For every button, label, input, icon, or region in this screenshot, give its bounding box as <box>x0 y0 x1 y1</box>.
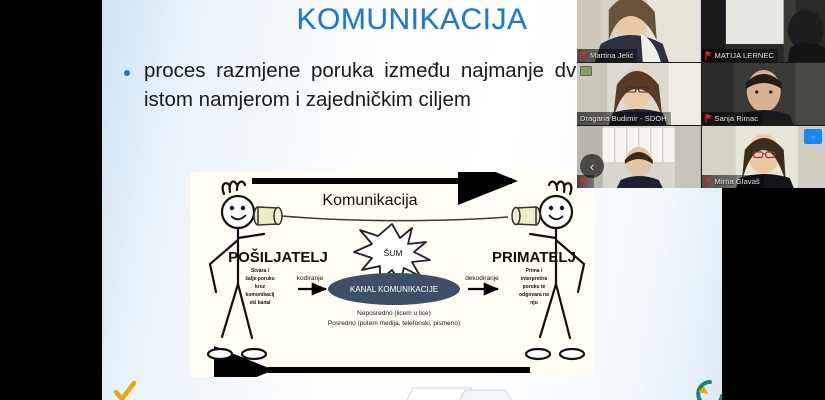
diagram-sender-title: POŠILJATELJ <box>228 248 328 266</box>
bullet-dot-icon <box>124 70 130 76</box>
svg-text:ski kanal: ski kanal <box>249 300 271 306</box>
video-thumbnail-icon <box>580 66 592 76</box>
diagram-channel-label: KANAL KOMUNIKACIJE <box>350 285 438 294</box>
camera-badge-icon[interactable]: ▭ <box>804 129 822 144</box>
participant-name-5: Mirna Glavaš <box>715 177 760 186</box>
flag-icon <box>705 177 712 186</box>
diagram-encode-label: kodiranje <box>297 275 324 282</box>
participant-tile-5[interactable]: ▭ Mirna Glavaš <box>702 126 825 188</box>
participant-tile-2[interactable]: Dragana Budimir - SDOH <box>577 63 701 125</box>
communication-diagram: Komunikacija <box>190 172 594 377</box>
svg-text:Prima i: Prima i <box>526 268 543 274</box>
participant-nameplate-2: Dragana Budimir - SDOH <box>577 112 671 125</box>
participant-grid[interactable]: Martina Jelić MATIJA LERNEC <box>577 0 825 188</box>
screen-share-view: KOMUNIKACIJA proces razmjene poruka izme… <box>0 0 825 400</box>
svg-text:poruku te: poruku te <box>523 284 546 290</box>
diagram-top-label: Komunikacija <box>322 192 417 209</box>
svg-text:odgovara na: odgovara na <box>519 292 549 298</box>
participant-tile-0[interactable]: Martina Jelić <box>577 0 701 62</box>
svg-text:interpretira: interpretira <box>521 276 548 282</box>
participant-tile-3[interactable]: Sanja Rimac <box>702 63 825 125</box>
flag-icon <box>705 51 712 60</box>
diagram-channel-note-1: Posredno (putem medija, telefonski, pism… <box>328 320 460 327</box>
svg-text:Stvara i: Stvara i <box>251 268 270 274</box>
circular-arrow-icon <box>692 376 722 400</box>
check-icon <box>112 378 138 400</box>
participant-name-2: Dragana Budimir - SDOH <box>580 114 667 123</box>
chevron-left-icon: ‹ <box>590 160 594 173</box>
svg-text:šalje poruku: šalje poruku <box>245 276 274 282</box>
diagram-noise-label: ŠUM <box>384 248 403 258</box>
participant-name-1: MATIJA LERNEC <box>715 51 775 60</box>
diagram-receiver-description: Prima i interpretira poruku te odgovara … <box>519 268 549 306</box>
flag-icon <box>580 177 587 186</box>
diagram-channel-note-0: Neposredno (licem u lice) <box>357 310 431 317</box>
participant-nameplate-3: Sanja Rimac <box>702 112 763 125</box>
participant-name-3: Sanja Rimac <box>715 114 759 123</box>
participant-name-0: Martina Jelić <box>590 51 633 60</box>
diagram-receiver-title: PRIMATELJ <box>492 249 576 266</box>
svg-text:nju: nju <box>530 300 538 306</box>
diagram-sender-description: Stvara i šalje poruku kroz komunikacij s… <box>245 268 275 306</box>
camera-badge-label: ▭ <box>811 134 815 140</box>
flag-icon <box>580 51 587 60</box>
participant-nameplate-0: Martina Jelić <box>577 49 637 62</box>
box-icon <box>397 382 525 400</box>
diagram-svg: Komunikacija <box>190 172 594 377</box>
participant-tile-1[interactable]: MATIJA LERNEC <box>702 0 825 62</box>
flag-icon <box>705 114 712 123</box>
participant-nameplate-5: Mirna Glavaš <box>702 175 764 188</box>
svg-text:komunikacij: komunikacij <box>246 292 276 298</box>
participant-nameplate-4 <box>577 175 594 188</box>
participant-nameplate-1: MATIJA LERNEC <box>702 49 779 62</box>
svg-text:kroz: kroz <box>255 284 266 290</box>
participant-tile-4[interactable]: ‹ <box>577 126 701 188</box>
diagram-decode-label: dekodiranje <box>465 275 499 282</box>
